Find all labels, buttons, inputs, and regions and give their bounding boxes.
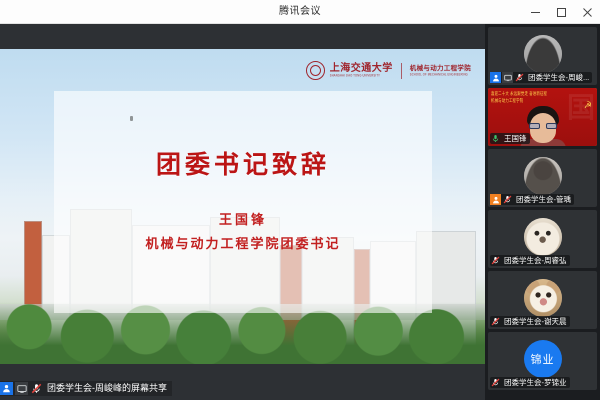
participant-status-bar: 王国锋 bbox=[490, 133, 530, 144]
shared-screen-content[interactable]: 上海交通大学 SHANGHAI JIAO TONG UNIVERSITY 机械与… bbox=[0, 49, 485, 364]
mic-muted-icon bbox=[502, 194, 513, 205]
glasses-icon bbox=[529, 123, 557, 129]
university-logo: 上海交通大学 SHANGHAI JIAO TONG UNIVERSITY 机械与… bbox=[306, 61, 471, 80]
mic-muted-glyph bbox=[515, 73, 524, 82]
minimize-button[interactable] bbox=[522, 0, 548, 24]
mic-muted-icon bbox=[30, 382, 43, 395]
person-glyph bbox=[492, 74, 500, 82]
participant-tile[interactable]: 团委学生会-谢天晨 bbox=[488, 271, 597, 329]
participant-tile[interactable]: 团委学生会-管瑀 bbox=[488, 149, 597, 207]
person-icon bbox=[0, 382, 13, 395]
slide-speaker-role: 机械与动力工程学院团委书记 bbox=[54, 233, 432, 252]
dog-photo-avatar-icon bbox=[524, 218, 562, 256]
screen-share-label-text: 团委学生会-周峻峰的屏幕共享 bbox=[45, 381, 167, 396]
participant-status-bar: 团委学生会-周峻... bbox=[490, 72, 592, 83]
avatar bbox=[524, 35, 562, 73]
slide-title: 团委书记致辞 bbox=[54, 145, 432, 181]
slide-speaker-name: 王国锋 bbox=[54, 209, 432, 228]
video-banner: 喜迎二十大 永远跟党走 奋进新征程 机械与动力工程学院 bbox=[491, 91, 543, 104]
hamster-photo-avatar-icon bbox=[524, 279, 562, 317]
mic-muted-icon bbox=[490, 377, 501, 388]
tencent-meeting-window: 腾讯会议 bbox=[0, 0, 600, 400]
close-button[interactable] bbox=[574, 0, 600, 24]
screen-share-icon bbox=[502, 72, 513, 83]
participant-status-bar: 团委学生会-周睿弘 bbox=[490, 255, 570, 266]
person-glyph bbox=[2, 384, 11, 393]
close-icon bbox=[582, 7, 593, 18]
participant-name: 团委学生会-管瑀 bbox=[514, 194, 571, 205]
shared-screen-stage[interactable]: 上海交通大学 SHANGHAI JIAO TONG UNIVERSITY 机械与… bbox=[0, 24, 485, 400]
mic-muted-glyph bbox=[491, 256, 500, 265]
participant-name: 团委学生会-周峻... bbox=[526, 72, 589, 83]
avatar bbox=[524, 157, 562, 195]
minimize-icon bbox=[530, 7, 541, 18]
woman-photo-avatar-icon bbox=[524, 157, 562, 195]
participant-tile[interactable]: 团委学生会-周睿弘 bbox=[488, 210, 597, 268]
university-name-en: SHANGHAI JIAO TONG UNIVERSITY bbox=[330, 74, 393, 78]
participant-name: 团委学生会-罗锦业 bbox=[502, 377, 567, 388]
university-seal-icon bbox=[306, 61, 325, 80]
banner-line-2: 机械与动力工程学院 bbox=[491, 98, 543, 105]
screen-share-icon bbox=[15, 382, 28, 395]
slide-content-card: 团委书记致辞 王国锋 机械与动力工程学院团委书记 bbox=[54, 91, 432, 313]
screen-share-label: 团委学生会-周峻峰的屏幕共享 bbox=[0, 381, 172, 396]
university-name-cn: 上海交通大学 bbox=[330, 64, 393, 75]
window-controls bbox=[522, 0, 600, 24]
participant-name: 团委学生会-谢天晨 bbox=[502, 316, 567, 327]
person-glyph bbox=[492, 196, 500, 204]
person-icon bbox=[490, 72, 501, 83]
avatar bbox=[524, 279, 562, 317]
person-silhouette-avatar-icon bbox=[524, 35, 562, 73]
mic-muted-glyph bbox=[491, 378, 500, 387]
participant-name: 团委学生会-周睿弘 bbox=[502, 255, 567, 266]
window-titlebar: 腾讯会议 bbox=[0, 0, 600, 24]
mic-muted-icon bbox=[514, 72, 525, 83]
school-name-en: SCHOOL OF MECHANICAL ENGINEERING bbox=[410, 73, 471, 77]
mic-active-icon bbox=[490, 133, 501, 144]
maximize-icon bbox=[556, 7, 567, 18]
avatar bbox=[524, 218, 562, 256]
logo-divider bbox=[401, 63, 402, 79]
participant-tile[interactable]: 团委学生会-周峻... bbox=[488, 27, 597, 85]
school-name-cn: 机械与动力工程学院 bbox=[410, 65, 471, 72]
avatar-initials: 锦业 bbox=[524, 340, 562, 378]
participant-status-bar: 团委学生会-谢天晨 bbox=[490, 316, 570, 327]
participant-rail[interactable]: 团委学生会-周峻... 国 喜迎二十大 永远跟党走 奋进新征程 机械与动力工程学… bbox=[485, 24, 600, 400]
mouse-cursor bbox=[130, 116, 133, 121]
mic-muted-glyph bbox=[491, 317, 500, 326]
mic-glyph bbox=[491, 134, 500, 143]
participant-status-bar: 团委学生会-罗锦业 bbox=[490, 377, 570, 388]
participant-name: 王国锋 bbox=[502, 133, 527, 144]
maximize-button[interactable] bbox=[548, 0, 574, 24]
participant-status-bar: 团委学生会-管瑀 bbox=[490, 194, 574, 205]
mic-muted-icon bbox=[490, 316, 501, 327]
mic-muted-glyph bbox=[503, 195, 512, 204]
mic-muted-glyph bbox=[31, 383, 42, 394]
screen-glyph bbox=[504, 74, 512, 82]
screen-glyph bbox=[17, 384, 27, 394]
window-title: 腾讯会议 bbox=[279, 0, 321, 24]
person-icon bbox=[490, 194, 501, 205]
participant-tile-active-speaker[interactable]: 国 喜迎二十大 永远跟党走 奋进新征程 机械与动力工程学院 ☭ bbox=[488, 88, 597, 146]
mic-muted-icon bbox=[490, 255, 501, 266]
participant-tile[interactable]: 锦业 团委学生会-罗锦业 bbox=[488, 332, 597, 390]
party-emblem-icon: ☭ bbox=[584, 101, 592, 110]
